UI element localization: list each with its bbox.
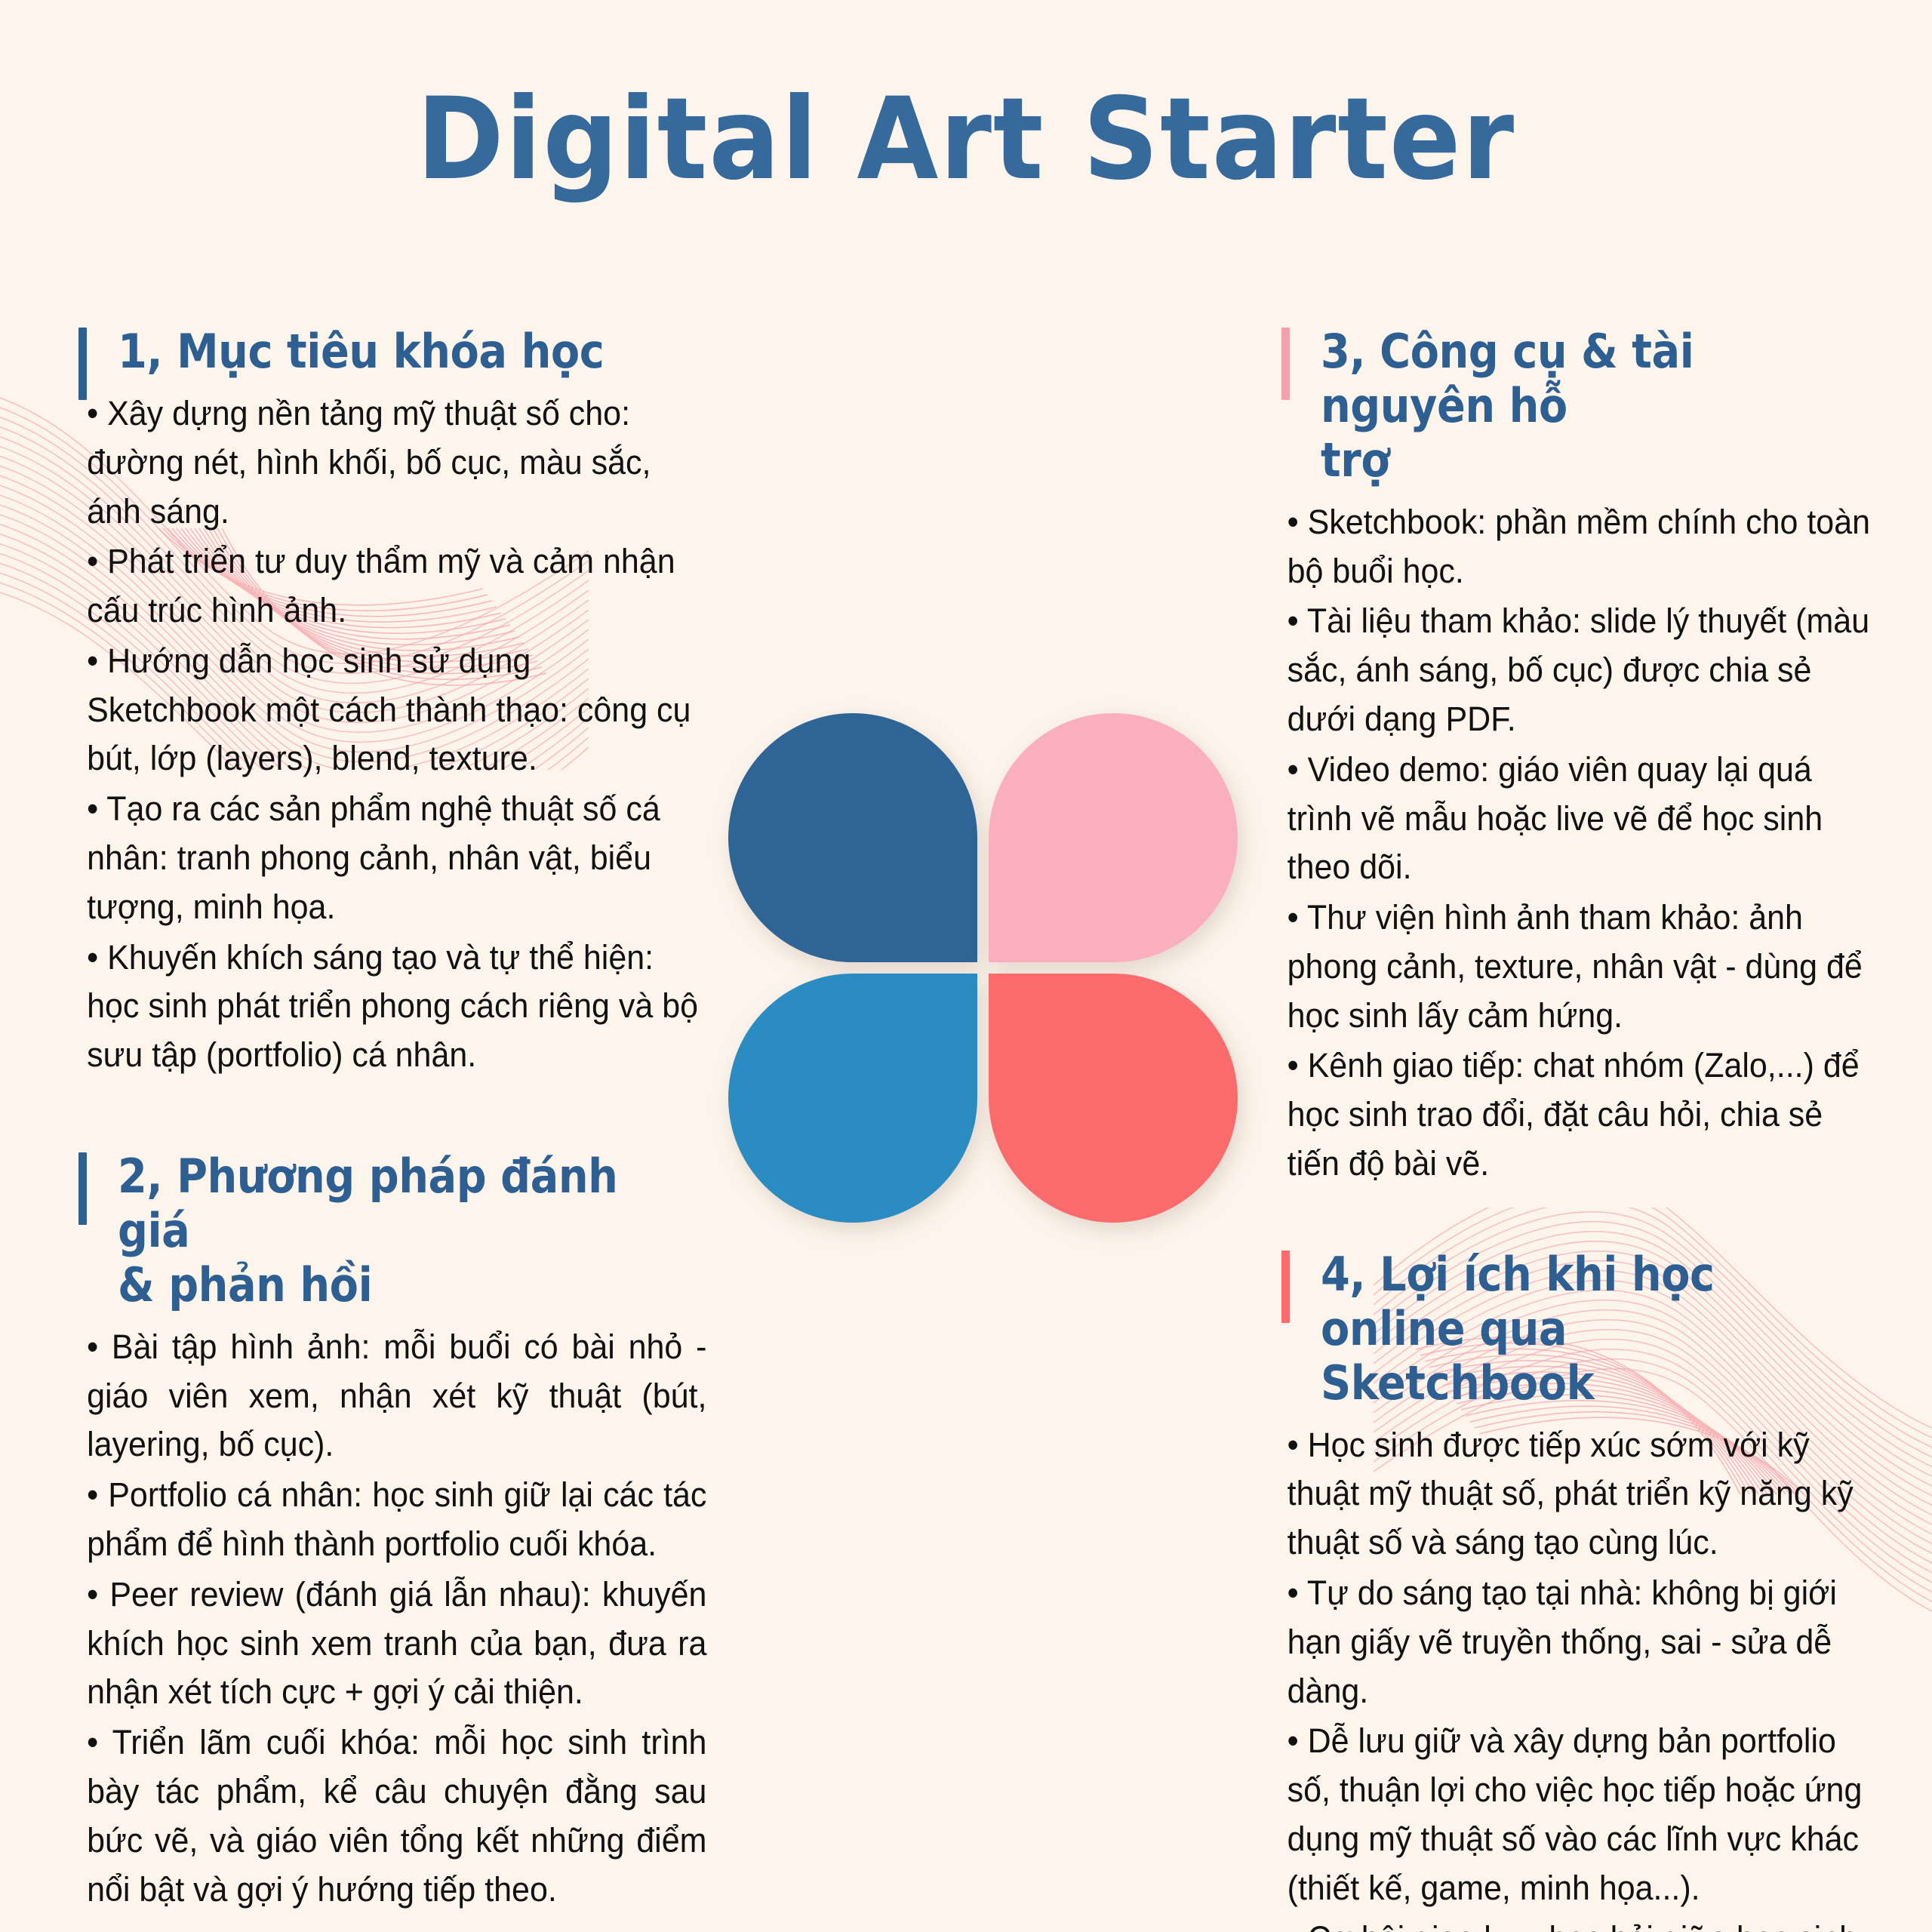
list-item: • Dễ lưu giữ và xây dựng bản portfolio s… <box>1287 1717 1883 1912</box>
section-3-title: 3, Công cụ & tài nguyên hỗ trợ <box>1321 325 1849 488</box>
section-2-header: 2, Phương pháp đánh giá & phản hồi <box>78 1149 737 1312</box>
section-1-body: • Xây dựng nền tảng mỹ thuật số cho: đườ… <box>72 389 706 1080</box>
list-item: • Video demo: giáo viên quay lại quá trì… <box>1287 746 1883 892</box>
section-3: 3, Công cụ & tài nguyên hỗ trợ • Sketchb… <box>1281 325 1908 1189</box>
list-item: • Tự do sáng tạo tại nhà: không bị giới … <box>1287 1569 1883 1715</box>
accent-bar-icon <box>1281 1251 1290 1323</box>
section-2-title: 2, Phương pháp đánh giá & phản hồi <box>118 1149 675 1312</box>
flower-graphic <box>721 706 1249 1234</box>
list-item: • Sketchbook: phần mềm chính cho toàn bộ… <box>1287 498 1883 596</box>
section-3-body: • Sketchbook: phần mềm chính cho toàn bộ… <box>1281 498 1882 1189</box>
petal-bottom-right-icon <box>989 974 1238 1223</box>
list-item: • Portfolio cá nhân: học sinh giữ lại cá… <box>87 1471 706 1569</box>
list-item: • Cơ hội giao lưu, học hỏi giữa học sinh… <box>1287 1915 1883 1932</box>
right-column: 3, Công cụ & tài nguyên hỗ trợ • Sketchb… <box>1281 325 1908 1932</box>
accent-bar-icon <box>78 1152 87 1225</box>
list-item: • Khuyến khích sáng tạo và tự thể hiện: … <box>87 934 706 1080</box>
section-3-header: 3, Công cụ & tài nguyên hỗ trợ <box>1281 325 1908 488</box>
list-item: • Học sinh được tiếp xúc sớm với kỹ thuậ… <box>1287 1421 1883 1567</box>
petal-top-right-icon <box>989 713 1238 962</box>
petal-top-left-icon <box>728 713 977 962</box>
list-item: • Bài tập hình ảnh: mỗi buổi có bài nhỏ … <box>87 1323 706 1469</box>
section-2-body: • Bài tập hình ảnh: mỗi buổi có bài nhỏ … <box>72 1323 706 1915</box>
list-item: • Xây dựng nền tảng mỹ thuật số cho: đườ… <box>87 389 706 536</box>
left-column: 1, Mục tiêu khóa học • Xây dựng nền tảng… <box>72 325 737 1920</box>
section-4-header: 4, Lợi ích khi học online qua Sketchbook <box>1281 1247 1908 1411</box>
page-title: Digital Art Starter <box>68 83 1865 196</box>
section-4-body: • Học sinh được tiếp xúc sớm với kỹ thuậ… <box>1281 1421 1882 1932</box>
list-item: • Triển lãm cuối khóa: mỗi học sinh trìn… <box>87 1718 706 1914</box>
list-item: • Kênh giao tiếp: chat nhóm (Zalo,...) đ… <box>1287 1041 1883 1188</box>
section-2: 2, Phương pháp đánh giá & phản hồi • Bài… <box>72 1149 737 1914</box>
section-1-header: 1, Mục tiêu khóa học <box>78 325 737 379</box>
section-1: 1, Mục tiêu khóa học • Xây dựng nền tảng… <box>72 325 737 1080</box>
poster-page: Digital Art Starter 1, Mục tiêu khóa học… <box>0 0 1932 1932</box>
list-item: • Tài liệu tham khảo: slide lý thuyết (m… <box>1287 597 1883 743</box>
list-item: • Tạo ra các sản phẩm nghệ thuật số cá n… <box>87 785 706 931</box>
list-item: • Peer review (đánh giá lẫn nhau): khuyế… <box>87 1571 706 1717</box>
section-4-title: 4, Lợi ích khi học online qua Sketchbook <box>1321 1247 1849 1411</box>
list-item: • Thư viện hình ảnh tham khảo: ảnh phong… <box>1287 894 1883 1040</box>
list-item: • Hướng dẫn học sinh sử dụng Sketchbook … <box>87 637 706 783</box>
list-item: • Phát triển tư duy thẩm mỹ và cảm nhận … <box>87 537 706 635</box>
section-1-title: 1, Mục tiêu khóa học <box>118 325 675 379</box>
petal-bottom-left-icon <box>728 974 977 1223</box>
accent-bar-icon <box>1281 328 1290 400</box>
section-4: 4, Lợi ích khi học online qua Sketchbook… <box>1281 1247 1908 1932</box>
